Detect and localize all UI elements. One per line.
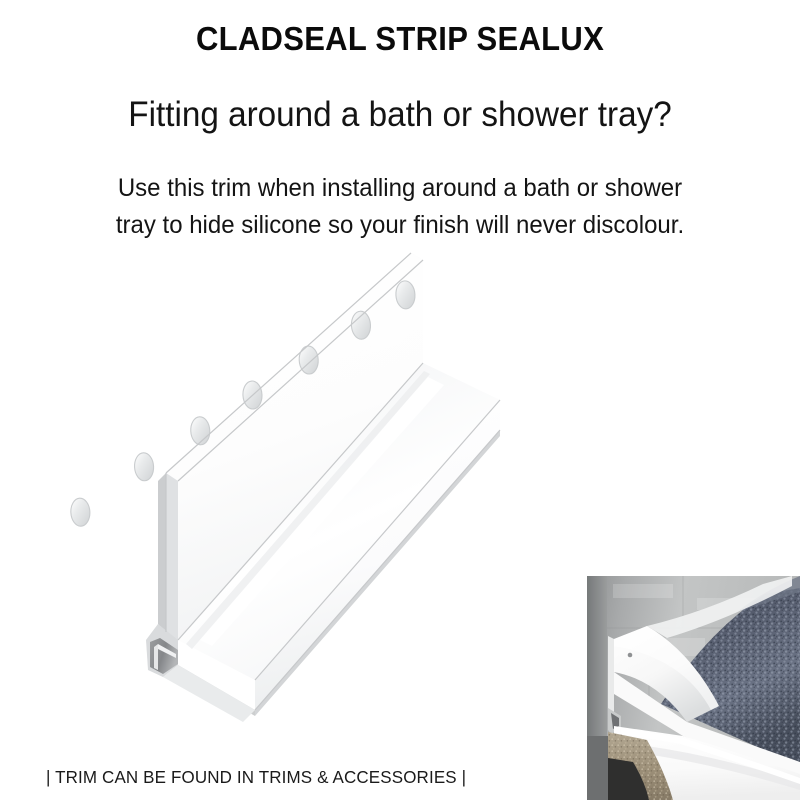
product-subtitle: Fitting around a bath or shower tray? [20, 93, 780, 137]
product-description: Use this trim when installing around a b… [16, 170, 784, 244]
install-photo-icon [587, 576, 800, 800]
page-title: CLADSEAL STRIP SEALUX [24, 19, 776, 59]
fixing-screw-icon [628, 653, 633, 658]
footer-note: | TRIM CAN BE FOUND IN TRIMS & ACCESSORI… [46, 767, 466, 788]
product-infographic-page: CLADSEAL STRIP SEALUX Fitting around a b… [0, 0, 800, 800]
product-description-line-1: Use this trim when installing around a b… [16, 170, 784, 207]
product-description-line-2: tray to hide silicone so your finish wil… [16, 207, 784, 244]
